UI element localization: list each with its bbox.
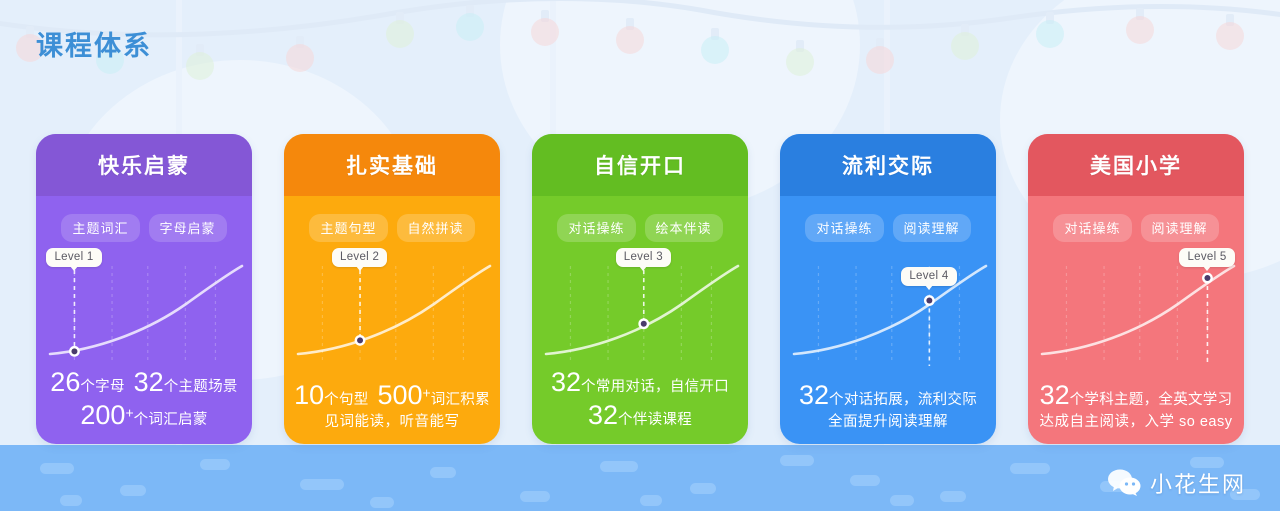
stat-superscript-secondary: + <box>423 385 431 401</box>
course-card-level-1[interactable]: 快乐启蒙主题词汇字母启蒙Level 126个字母 32个主题场景200+个词汇启… <box>36 134 252 444</box>
water-dash <box>690 483 716 494</box>
water-dash <box>850 475 880 486</box>
stat-label-secondary: 个主题场景 <box>164 379 238 395</box>
level-badge[interactable]: Level 4 <box>901 267 956 286</box>
stat-subtext: 全面提升阅读理解 <box>828 414 948 430</box>
card-stats: 32个学科主题，全英文学习达成自主阅读，入学 so easy <box>1028 379 1244 432</box>
card-stats: 32个常用对话，自信开口32个伴读课程 <box>532 366 748 432</box>
card-title: 扎实基础 <box>346 150 438 180</box>
course-card-level-2[interactable]: 扎实基础主题句型自然拼读Level 210个句型 500+词汇积累见词能读，听音… <box>284 134 500 444</box>
course-card-level-3[interactable]: 自信开口对话操练绘本伴读Level 332个常用对话，自信开口32个伴读课程 <box>532 134 748 444</box>
water-dash <box>200 459 230 470</box>
card-stats: 10个句型 500+词汇积累见词能读，听音能写 <box>284 379 500 432</box>
card-tag-list: 对话操练阅读理解 <box>780 214 996 242</box>
water-dash <box>640 495 662 506</box>
stat-number: 200 <box>80 400 125 430</box>
growth-curve-chart: Level 5 <box>1028 248 1244 372</box>
water-dash <box>40 463 74 474</box>
wechat-icon <box>1107 468 1141 498</box>
card-tag[interactable]: 自然拼读 <box>397 214 475 242</box>
card-body: 对话操练绘本伴读Level 332个常用对话，自信开口32个伴读课程 <box>532 196 748 444</box>
card-header: 扎实基础 <box>284 134 500 196</box>
stat-label: 个常用对话，自信开口 <box>581 379 729 395</box>
course-level-cards: 快乐启蒙主题词汇字母启蒙Level 126个字母 32个主题场景200+个词汇启… <box>0 134 1280 448</box>
growth-curve-chart: Level 1 <box>36 248 252 372</box>
card-tag[interactable]: 绘本伴读 <box>645 214 723 242</box>
water-dash <box>430 467 456 478</box>
water-band-decoration <box>0 445 1280 511</box>
card-tag-list: 主题词汇字母启蒙 <box>36 214 252 242</box>
stat-label-secondary: 词汇积累 <box>431 392 490 408</box>
card-stat-line: 见词能读，听音能写 <box>290 412 494 432</box>
stat-label: 个句型 <box>324 392 368 408</box>
card-stat-line: 26个字母 32个主题场景 <box>42 366 246 399</box>
water-dash <box>940 491 966 502</box>
page-title: 课程体系 <box>36 24 152 63</box>
stat-number: 32 <box>551 367 581 397</box>
card-tag[interactable]: 主题句型 <box>309 214 387 242</box>
card-stat-line: 全面提升阅读理解 <box>786 412 990 432</box>
water-dash <box>600 461 638 472</box>
water-dash <box>520 491 550 502</box>
card-stat-line: 32个伴读课程 <box>538 399 742 432</box>
growth-curve-chart: Level 3 <box>532 248 748 372</box>
card-stats: 32个对话拓展，流利交际全面提升阅读理解 <box>780 379 996 432</box>
stat-number: 32 <box>588 400 618 430</box>
course-card-level-5[interactable]: 美国小学对话操练阅读理解Level 532个学科主题，全英文学习达成自主阅读，入… <box>1028 134 1244 444</box>
card-stat-line: 32个常用对话，自信开口 <box>538 366 742 399</box>
card-tag[interactable]: 字母启蒙 <box>149 214 227 242</box>
level-badge[interactable]: Level 3 <box>616 248 671 267</box>
card-body: 对话操练阅读理解Level 532个学科主题，全英文学习达成自主阅读，入学 so… <box>1028 196 1244 444</box>
growth-curve-chart: Level 2 <box>284 248 500 372</box>
stat-label: 个学科主题，全英文学习 <box>1070 392 1233 408</box>
card-stat-line: 32个对话拓展，流利交际 <box>786 379 990 412</box>
water-dash <box>780 455 814 466</box>
card-tag[interactable]: 阅读理解 <box>1141 214 1219 242</box>
string-lights-decoration <box>0 0 1280 110</box>
water-dash <box>890 495 914 506</box>
card-tag[interactable]: 对话操练 <box>557 214 635 242</box>
watermark-text: 小花生网 <box>1150 467 1246 499</box>
card-tag[interactable]: 对话操练 <box>1053 214 1131 242</box>
water-dash <box>60 495 82 506</box>
card-stats: 26个字母 32个主题场景200+个词汇启蒙 <box>36 366 252 432</box>
card-header: 流利交际 <box>780 134 996 196</box>
card-body: 主题词汇字母启蒙Level 126个字母 32个主题场景200+个词汇启蒙 <box>36 196 252 444</box>
stat-label: 个字母 <box>80 379 124 395</box>
stat-number: 10 <box>294 380 324 410</box>
card-title: 快乐启蒙 <box>98 150 190 180</box>
card-title: 流利交际 <box>842 150 934 180</box>
level-badge[interactable]: Level 1 <box>46 248 101 267</box>
water-dash <box>120 485 146 496</box>
stat-superscript: + <box>125 405 133 421</box>
card-body: 对话操练阅读理解Level 432个对话拓展，流利交际全面提升阅读理解 <box>780 196 996 444</box>
card-tag-list: 对话操练绘本伴读 <box>532 214 748 242</box>
card-body: 主题句型自然拼读Level 210个句型 500+词汇积累见词能读，听音能写 <box>284 196 500 444</box>
stat-number-secondary: 500 <box>377 380 422 410</box>
stat-label: 个伴读课程 <box>618 412 692 428</box>
stat-number: 26 <box>50 367 80 397</box>
water-dash <box>300 479 344 490</box>
level-badge[interactable]: Level 5 <box>1179 248 1234 267</box>
card-header: 自信开口 <box>532 134 748 196</box>
card-tag-list: 主题句型自然拼读 <box>284 214 500 242</box>
card-stat-line: 200+个词汇启蒙 <box>42 399 246 432</box>
stat-number: 32 <box>1040 380 1070 410</box>
card-title: 自信开口 <box>594 150 686 180</box>
card-tag[interactable]: 阅读理解 <box>893 214 971 242</box>
card-header: 美国小学 <box>1028 134 1244 196</box>
card-header: 快乐启蒙 <box>36 134 252 196</box>
level-badge[interactable]: Level 2 <box>332 248 387 267</box>
card-title: 美国小学 <box>1090 150 1182 180</box>
watermark: 小花生网 <box>1107 467 1246 499</box>
water-dash <box>370 497 394 508</box>
stat-number-secondary: 32 <box>134 367 164 397</box>
card-tag-list: 对话操练阅读理解 <box>1028 214 1244 242</box>
card-stat-line: 32个学科主题，全英文学习 <box>1034 379 1238 412</box>
growth-curve-chart: Level 4 <box>780 248 996 372</box>
card-tag[interactable]: 主题词汇 <box>61 214 139 242</box>
stat-number: 32 <box>799 380 829 410</box>
card-tag[interactable]: 对话操练 <box>805 214 883 242</box>
stat-label: 个词汇启蒙 <box>134 412 208 428</box>
card-stat-line: 10个句型 500+词汇积累 <box>290 379 494 412</box>
card-stat-line: 达成自主阅读，入学 so easy <box>1034 412 1238 432</box>
stat-subtext: 达成自主阅读，入学 so easy <box>1040 414 1233 430</box>
course-card-level-4[interactable]: 流利交际对话操练阅读理解Level 432个对话拓展，流利交际全面提升阅读理解 <box>780 134 996 444</box>
water-dash <box>1010 463 1050 474</box>
stat-subtext: 见词能读，听音能写 <box>325 414 460 430</box>
stat-label: 个对话拓展，流利交际 <box>829 392 977 408</box>
